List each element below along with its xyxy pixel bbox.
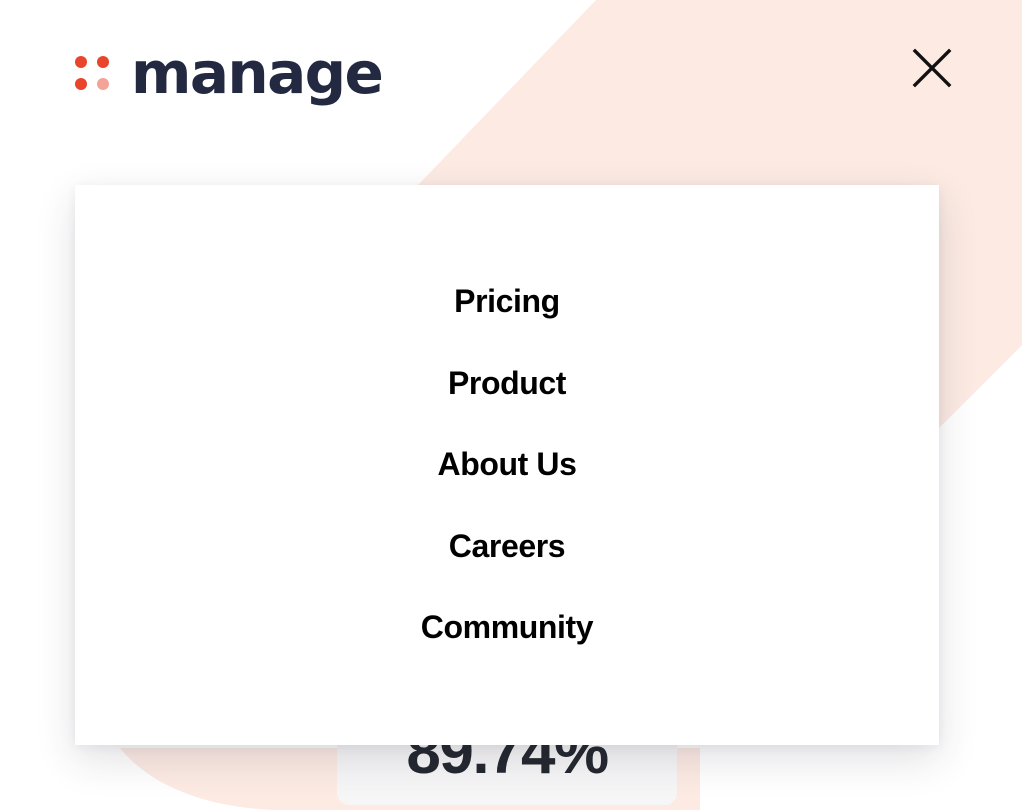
brand-logo[interactable]: manage [75,44,382,102]
menu-item-careers[interactable]: Careers [75,506,939,588]
menu-item-about-us[interactable]: About Us [75,424,939,506]
app-root: 89.74% manage Pricing [0,0,1022,810]
menu-link-community[interactable]: Community [421,611,593,645]
close-menu-button[interactable] [906,42,958,94]
logo-dot-bottom-left [75,78,87,90]
logo-dots-icon [75,56,109,90]
menu-item-pricing[interactable]: Pricing [75,261,939,343]
page-header: manage [0,0,1022,148]
menu-item-community[interactable]: Community [75,587,939,669]
close-x-icon [910,46,954,90]
menu-link-about-us[interactable]: About Us [437,448,576,482]
logo-dot-bottom-right [97,78,109,90]
menu-link-product[interactable]: Product [448,367,566,401]
menu-list: Pricing Product About Us Careers Communi… [75,261,939,669]
logo-wordmark: manage [131,44,382,102]
menu-item-product[interactable]: Product [75,343,939,425]
logo-dot-top-left [75,56,87,68]
menu-link-careers[interactable]: Careers [449,530,565,564]
overlay-menu-panel: Pricing Product About Us Careers Communi… [75,185,939,745]
menu-link-pricing[interactable]: Pricing [454,285,560,319]
logo-dot-top-right [97,56,109,68]
